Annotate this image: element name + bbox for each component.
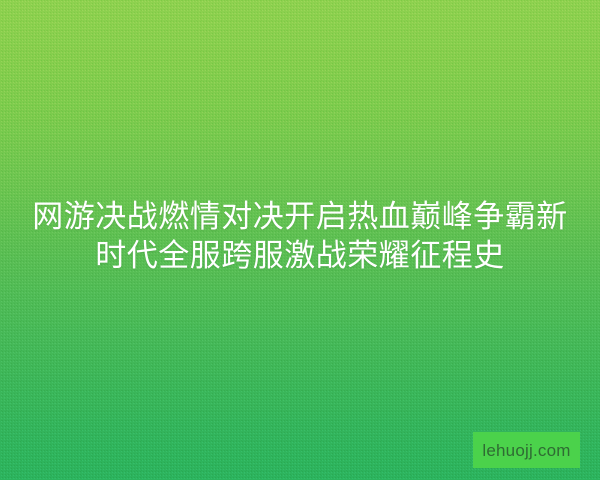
banner-headline: 网游决战燃情对决开启热血巅峰争霸新时代全服跨服激战荣耀征程史 [0, 198, 600, 276]
watermark-label: lehuojj.com [482, 442, 570, 459]
promo-banner: 网游决战燃情对决开启热血巅峰争霸新时代全服跨服激战荣耀征程史 lehuojj.c… [0, 0, 600, 480]
watermark-badge: lehuojj.com [473, 432, 580, 468]
